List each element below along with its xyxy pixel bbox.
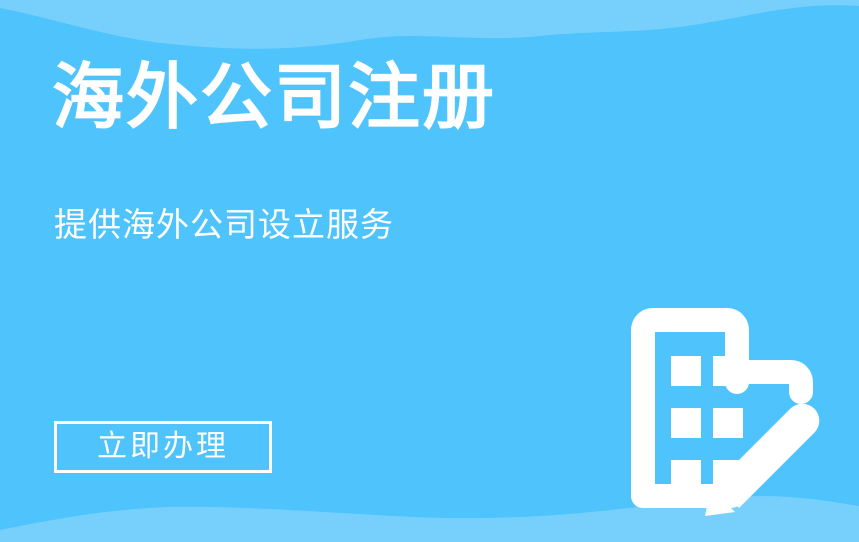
page-subtitle: 提供海外公司设立服务	[54, 205, 394, 245]
overseas-company-registration-banner: 海外公司注册 提供海外公司设立服务 立即办理	[0, 0, 859, 542]
page-title: 海外公司注册	[52, 62, 496, 134]
banner-content: 海外公司注册 提供海外公司设立服务 立即办理	[52, 0, 612, 542]
apply-now-button[interactable]: 立即办理	[54, 421, 272, 473]
building-with-pencil-icon	[605, 300, 825, 520]
